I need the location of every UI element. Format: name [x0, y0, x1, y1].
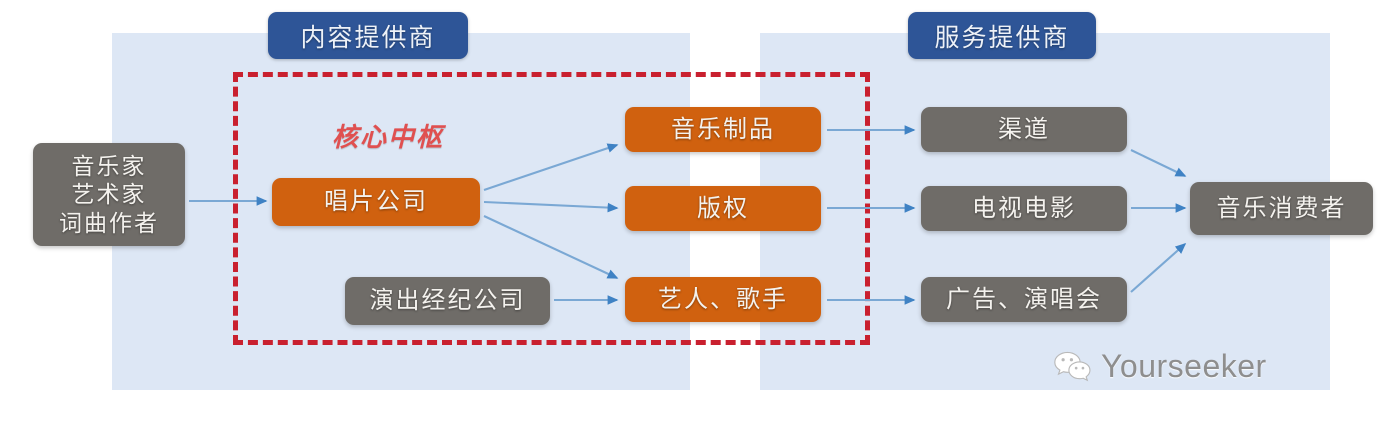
- node-label: 版权: [697, 194, 749, 223]
- node-performance-agency[interactable]: 演出经纪公司: [345, 277, 550, 325]
- node-label: 音乐消费者: [1217, 194, 1347, 223]
- watermark-text: Yourseeker: [1101, 348, 1267, 385]
- watermark: Yourseeker: [1053, 348, 1267, 385]
- node-label: 艺人、歌手: [658, 285, 788, 314]
- node-label-line: 词曲作者: [59, 209, 159, 237]
- section-header-label: 服务提供商: [934, 18, 1069, 54]
- node-label: 唱片公司: [324, 187, 428, 216]
- node-artists[interactable]: 音乐家 艺术家 词曲作者: [33, 143, 185, 246]
- node-music-consumer[interactable]: 音乐消费者: [1190, 182, 1373, 235]
- node-label: 广告、演唱会: [946, 285, 1102, 314]
- node-music-products[interactable]: 音乐制品: [625, 107, 821, 152]
- section-header-content-provider[interactable]: 内容提供商: [268, 12, 468, 59]
- section-header-label: 内容提供商: [300, 18, 435, 54]
- wechat-icon: [1053, 350, 1091, 384]
- node-label: 电视电影: [972, 194, 1076, 223]
- node-tv-film[interactable]: 电视电影: [921, 186, 1127, 231]
- node-label: 音乐制品: [671, 115, 775, 144]
- node-label-line: 音乐家: [72, 152, 147, 180]
- section-header-service-provider[interactable]: 服务提供商: [908, 12, 1096, 59]
- node-label: 演出经纪公司: [370, 286, 526, 315]
- node-ads-concerts[interactable]: 广告、演唱会: [921, 277, 1127, 322]
- node-copyright[interactable]: 版权: [625, 186, 821, 231]
- node-record-company[interactable]: 唱片公司: [272, 178, 480, 226]
- node-channel[interactable]: 渠道: [921, 107, 1127, 152]
- node-label-line: 艺术家: [72, 180, 147, 208]
- core-hub-label: 核心中枢: [332, 117, 444, 154]
- node-performers[interactable]: 艺人、歌手: [625, 277, 821, 322]
- diagram-canvas: 内容提供商 服务提供商 核心中枢 音乐家 艺术家 词曲作者 唱片公司 演出经纪公…: [0, 0, 1397, 427]
- node-label: 渠道: [998, 115, 1050, 144]
